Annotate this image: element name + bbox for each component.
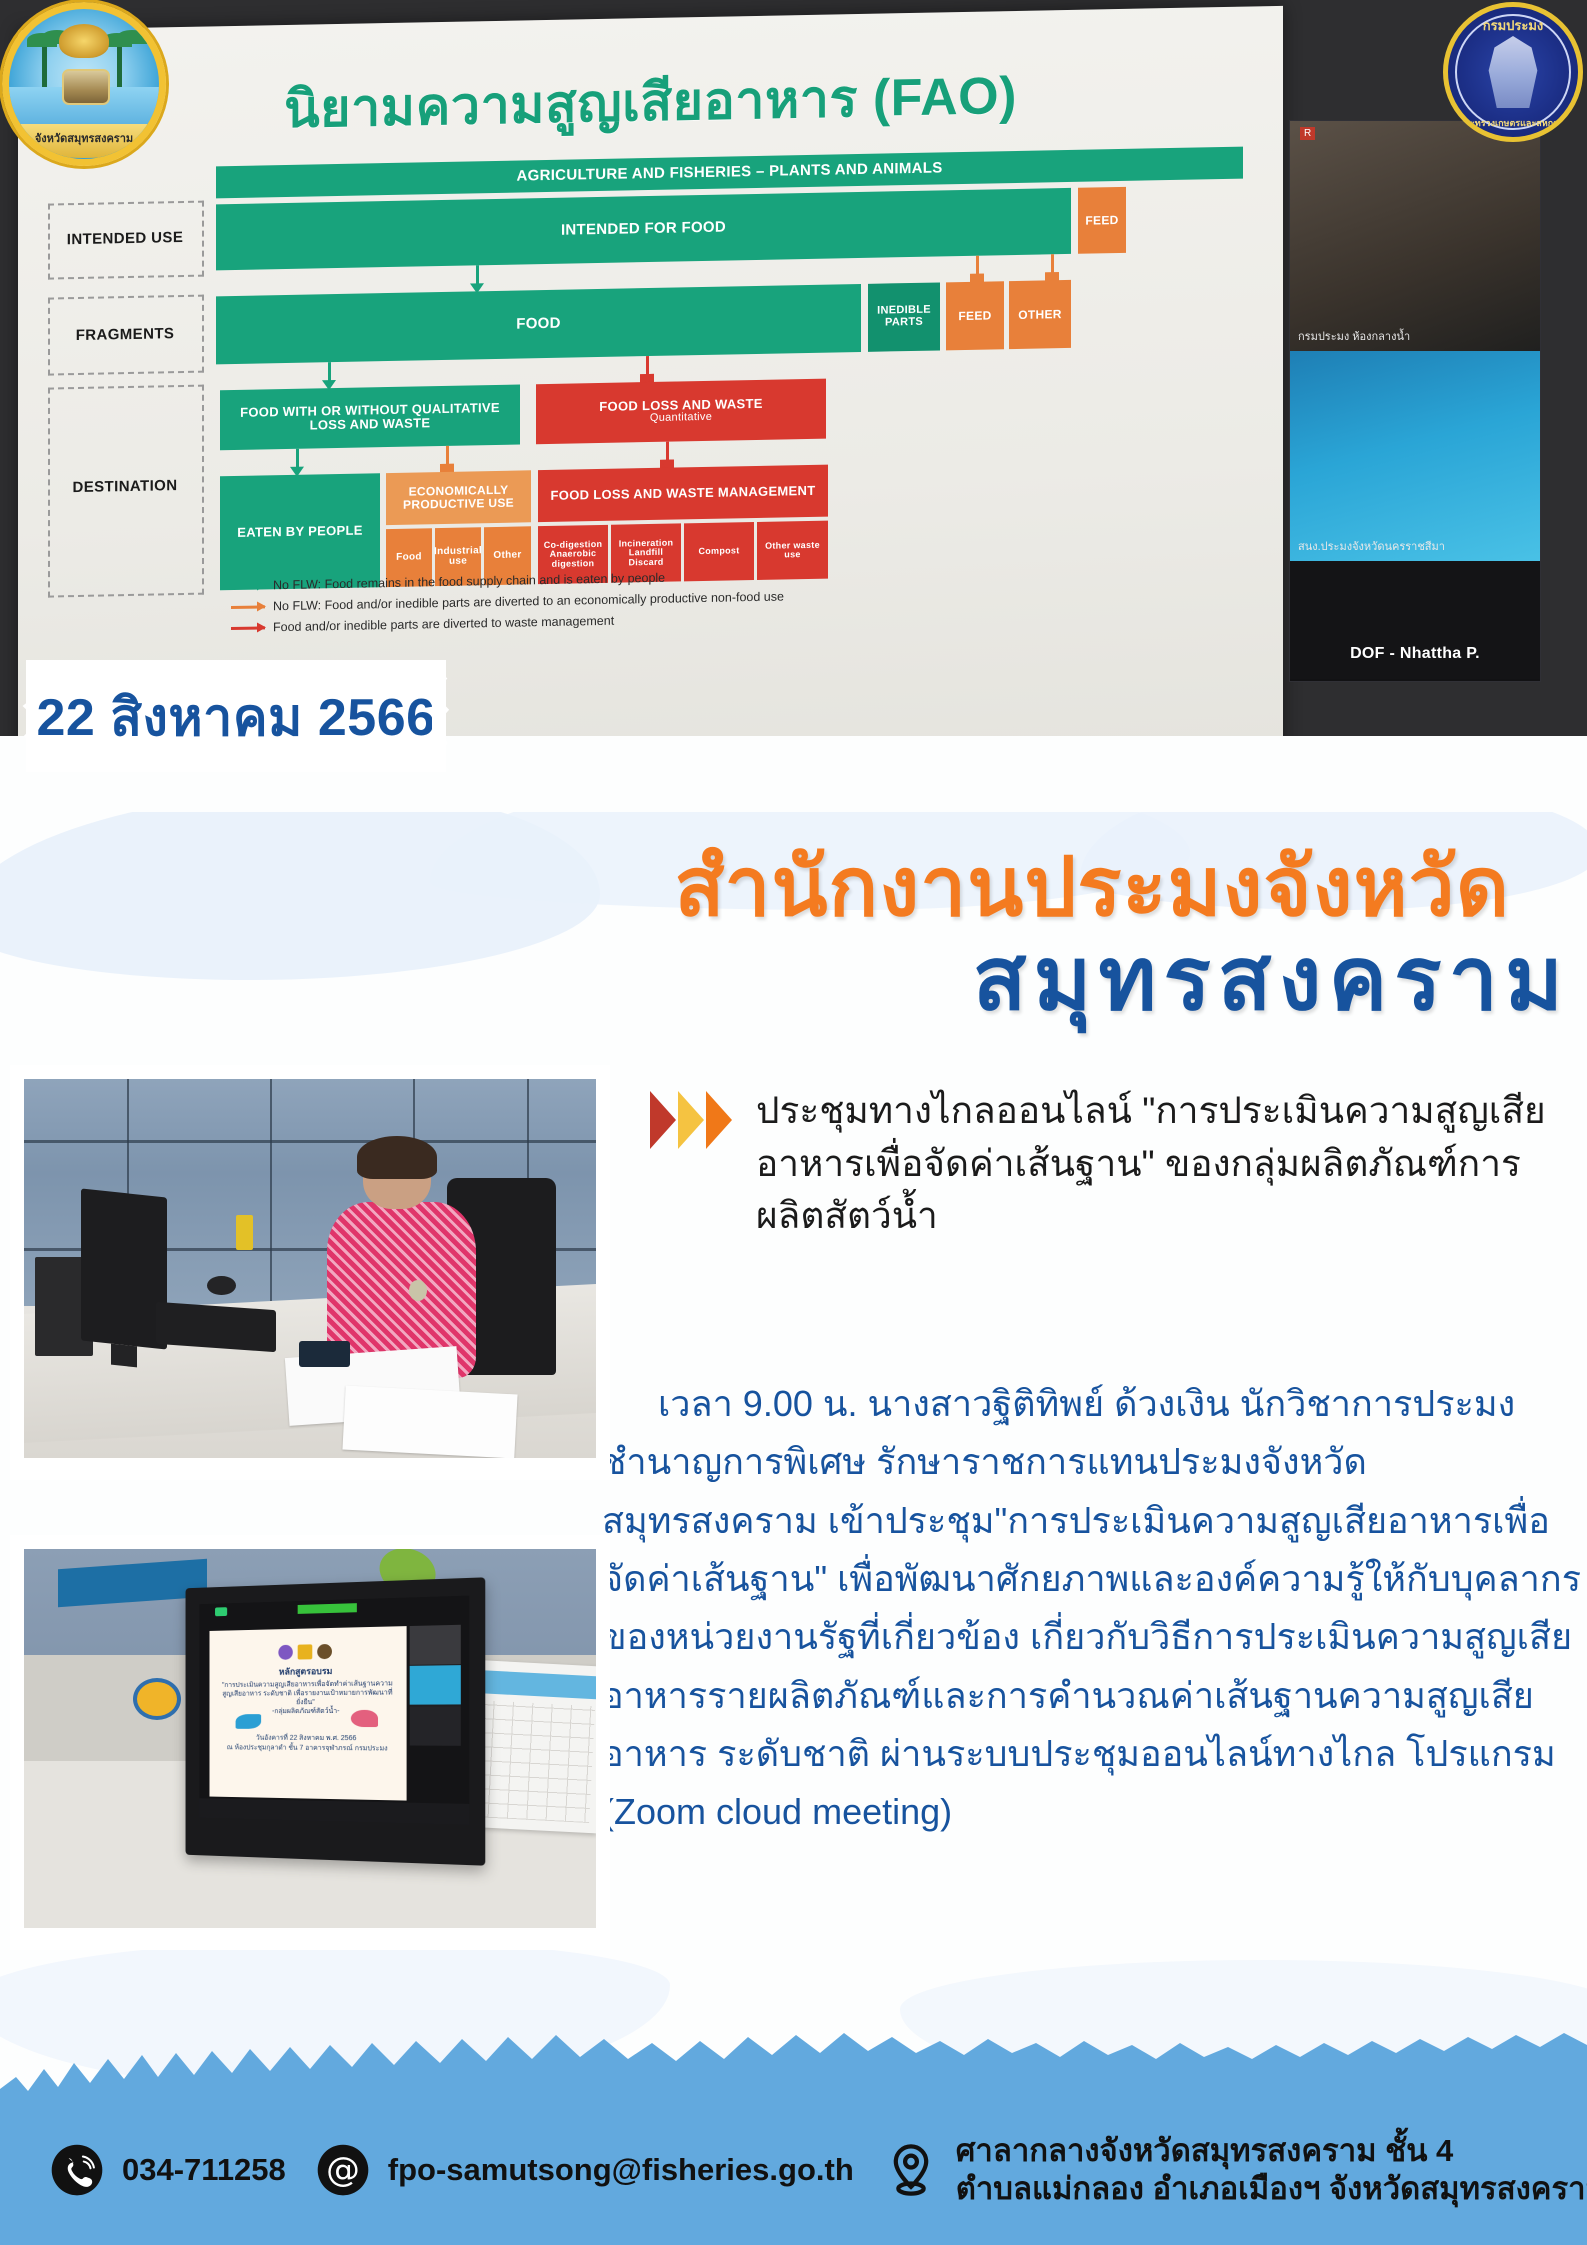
- footer-address-item: ศาลากลางจังหวัดสมุทรสงคราม ชั้น 4 ตำบลแม…: [884, 2132, 1587, 2208]
- footer-contact-row: 034-711258 @ fpo-samutsong@fisheries.go.…: [0, 2095, 1587, 2245]
- footer-email-address: fpo-samutsong@fisheries.go.th: [388, 2151, 854, 2189]
- lead-paragraph-text: ประชุมทางไกลออนไลน์ "การประเมินความสูญเส…: [756, 1085, 1550, 1243]
- bar-food-with-qualitative-loss: FOOD WITH OR WITHOUT QUALITATIVE LOSS AN…: [220, 385, 520, 451]
- fao-food-loss-diagram: INTENDED USE FRAGMENTS DESTINATION AGRIC…: [46, 146, 1263, 697]
- department-of-fisheries-seal-icon: กรมประมง กระทรวงเกษตรและสหกรณ์: [1443, 2, 1583, 142]
- smartphone: [299, 1341, 350, 1368]
- province-seal-caption: จังหวัดสมุทรสงคราม: [15, 129, 153, 147]
- legend-item-2: No FLW: Food and/or inedible parts are d…: [273, 589, 784, 613]
- water-bottle: [236, 1215, 253, 1249]
- bar-flw-management: FOOD LOSS AND WASTE MANAGEMENT: [538, 465, 828, 523]
- keyboard: [156, 1302, 276, 1352]
- bar-eaten-by-people: EATEN BY PEOPLE: [220, 473, 380, 590]
- zoom-tile-meeting-room: R กรมประมง ห้องกลางน้ำ: [1290, 121, 1540, 351]
- row-label-destination: DESTINATION: [50, 477, 200, 497]
- zoom-tile-presenter: DOF - Nhattha P.: [1290, 561, 1540, 679]
- tape-roll: [133, 1678, 181, 1720]
- slide-heading: หลักสูตรอบรม "การประเมินความสูญเสียอาหาร…: [221, 1665, 394, 1716]
- recording-indicator-icon: [215, 1607, 228, 1616]
- title-line-1: สำนักงานประมงจังหวัด: [520, 845, 1570, 931]
- bar-economically-productive-use: ECONOMICALLY PRODUCTIVE USE: [386, 470, 531, 525]
- zoom-tile-label-1: กรมประมง ห้องกลางน้ำ: [1298, 327, 1410, 345]
- zoom-toolbar: [200, 1798, 470, 1824]
- presentation-slide: หลักสูตรอบรม "การประเมินความสูญเสียอาหาร…: [210, 1627, 407, 1801]
- seal-ribbon: จังหวัดสมุทรสงคราม: [15, 124, 153, 158]
- monitor-screen: หลักสูตรอบรม "การประเมินความสูญเสียอาหาร…: [200, 1595, 470, 1825]
- bar-food-loss-and-waste: FOOD LOSS AND WASTE Quantitative: [536, 379, 826, 445]
- monitor: หลักสูตรอบรม "การประเมินความสูญเสียอาหาร…: [186, 1577, 486, 1865]
- title-line-2: สมุทรสงคราม: [520, 931, 1570, 1026]
- bar-feed-top: FEED: [1078, 187, 1126, 254]
- photo-officer-at-desk: [10, 1065, 610, 1480]
- officer-hair: [357, 1136, 437, 1178]
- footer-phone-item[interactable]: 034-711258: [50, 2143, 286, 2197]
- fish-icon: [236, 1714, 261, 1729]
- desktop-monitor: [81, 1188, 167, 1349]
- lead-paragraph-block: ประชุมทางไกลออนไลน์ "การประเมินความสูญเส…: [650, 1085, 1550, 1243]
- sdg-logo-icon: [279, 1645, 293, 1660]
- flw-subtitle: Quantitative: [650, 412, 712, 425]
- dof-seal-top-text: กรมประมง: [1448, 15, 1578, 36]
- uniform-badge: [409, 1280, 427, 1301]
- garuda-emblem-icon: [59, 24, 109, 58]
- date-text: 22 สิงหาคม 2566: [36, 675, 435, 758]
- poster-page: นิยามความสูญเสียอาหาร (FAO) INTENDED USE…: [0, 0, 1587, 2245]
- slide-heading-title: "การประเมินความสูญเสียอาหารเพื่อจัดทำค่า…: [221, 1679, 394, 1707]
- bar-food: FOOD: [216, 284, 861, 364]
- zoom-tile-label-2: สนง.ประมงจังหวัดนครราชสีมา: [1298, 537, 1445, 555]
- footer-address: ศาลากลางจังหวัดสมุทรสงคราม ชั้น 4 ตำบลแม…: [956, 2132, 1587, 2208]
- zoom-tile-slide: สนง.ประมงจังหวัดนครราชสีมา: [1290, 351, 1540, 561]
- bar-inedible-parts: INEDIBLE PARTS: [868, 282, 940, 351]
- photo-monitor-zoom-slide: หลักสูตรอบรม "การประเมินความสูญเสียอาหาร…: [10, 1535, 610, 1950]
- recording-tag: R: [1300, 127, 1315, 140]
- footer: 034-711258 @ fpo-samutsong@fisheries.go.…: [0, 2075, 1587, 2245]
- zoom-participant-panel: R กรมประมง ห้องกลางน้ำ สนง.ประมงจังหวัดน…: [1289, 120, 1541, 682]
- footer-address-line-1: ศาลากลางจังหวัดสมุทรสงคราม ชั้น 4: [956, 2132, 1587, 2170]
- body-paragraph: เวลา 9.00 น. นางสาวฐิติทิพย์ ด้วงเงิน นั…: [602, 1375, 1582, 1842]
- shrimp-icon: [352, 1710, 378, 1727]
- phone-icon: [50, 2143, 104, 2197]
- dof-seal-bottom-text: กระทรวงเกษตรและสหกรณ์: [1448, 116, 1578, 130]
- diagram-legend: No FLW: Food remains in the food supply …: [231, 568, 784, 642]
- bar-feed: FEED: [946, 281, 1004, 350]
- zoom-presenter-name: DOF - Nhattha P.: [1290, 645, 1540, 663]
- location-pin-icon: [884, 2143, 938, 2197]
- footer-phone-number: 034-711258: [122, 2151, 286, 2189]
- ku-logo-icon: [299, 1644, 314, 1659]
- row-label-fragments: FRAGMENTS: [50, 325, 200, 345]
- slide-heading-main: หลักสูตรอบรม: [221, 1665, 394, 1679]
- calendar-header: [473, 1669, 596, 1699]
- slide-place: ณ ห้องประชุมกุลาดำ ชั้น 7 อาคารจุฬาภรณ์ …: [225, 1743, 390, 1754]
- drum-icon: [62, 69, 110, 105]
- svg-text:@: @: [326, 2150, 360, 2189]
- mouse: [207, 1276, 236, 1295]
- email-at-icon: @: [316, 2143, 370, 2197]
- slide-logos: [263, 1640, 350, 1664]
- row-label-intended-use: INTENDED USE: [50, 229, 200, 249]
- samut-songkhram-province-seal-icon: จังหวัดสมุทรสงคราม: [2, 2, 166, 166]
- zoom-banner: [298, 1603, 357, 1614]
- date-badge: 22 สิงหาคม 2566: [26, 660, 446, 772]
- page-title: สำนักงานประมงจังหวัด สมุทรสงคราม: [520, 845, 1570, 1026]
- bar-intended-for-food: INTENDED FOR FOOD: [216, 188, 1071, 270]
- footer-torn-edge: [0, 2033, 1587, 2103]
- legend-item-3: Food and/or inedible parts are diverted …: [273, 614, 614, 635]
- slide-subtext: วันอังคารที่ 22 สิงหาคม พ.ศ. 2566 ณ ห้อง…: [225, 1734, 390, 1754]
- chevron-triple-icon: [650, 1091, 734, 1149]
- slide-title: นิยามความสูญเสียอาหาร (FAO): [18, 48, 1283, 155]
- footer-email-item[interactable]: @ fpo-samutsong@fisheries.go.th: [316, 2143, 854, 2197]
- dof-logo-icon: [318, 1644, 333, 1659]
- documents-on-desk: [343, 1385, 518, 1458]
- zoom-participant-strip: [410, 1625, 461, 1744]
- calendar-grid: [469, 1700, 596, 1823]
- bar-other: OTHER: [1009, 280, 1071, 349]
- footer-address-line-2: ตำบลแม่กลอง อำเภอเมืองฯ จังหวัดสมุทรสงคร…: [956, 2170, 1587, 2208]
